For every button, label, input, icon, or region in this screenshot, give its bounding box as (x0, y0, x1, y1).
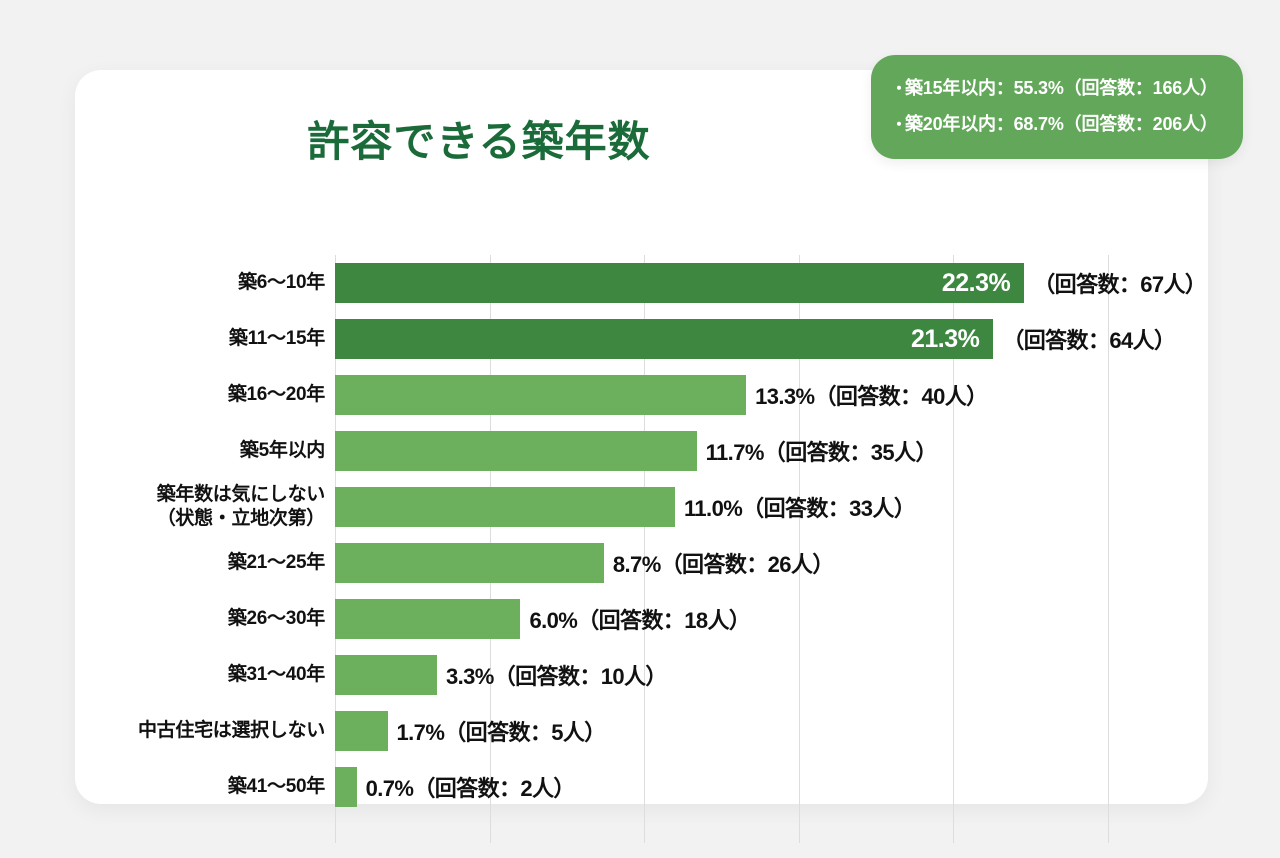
page-title: 許容できる築年数 (75, 108, 883, 169)
bar-category-label: 築31〜40年 (75, 663, 325, 687)
bar-category-label: 築年数は気にしない （状態・立地次第） (75, 483, 325, 531)
bullet-icon: ・ (891, 73, 905, 107)
bar-value-label: 0.7%（回答数：2人） (366, 771, 575, 803)
bar-row: 築6〜10年22.3%（回答数：67人） (75, 255, 1208, 311)
bar-value-label: 6.0%（回答数：18人） (529, 603, 750, 635)
bar-track: 11.0%（回答数：33人） (335, 479, 915, 535)
bar-value-label: 8.7%（回答数：26人） (613, 547, 834, 579)
bullet-icon: ・ (891, 109, 905, 143)
bar-count-label: （回答数：64人） (1002, 323, 1175, 355)
bar-row: 築41〜50年0.7%（回答数：2人） (75, 759, 1208, 815)
bar (335, 655, 437, 695)
bar (335, 375, 746, 415)
summary-badge-text: 築20年以内：68.7%（回答数：206人） (905, 114, 1218, 134)
bar-track: 21.3%（回答数：64人） (335, 311, 1175, 367)
bar: 22.3% (335, 263, 1024, 303)
bar (335, 711, 388, 751)
bar-row: 中古住宅は選択しない1.7%（回答数：5人） (75, 703, 1208, 759)
bar-category-label: 築16〜20年 (75, 383, 325, 407)
bar-category-label: 築5年以内 (75, 439, 325, 463)
chart-card: 許容できる築年数 築6〜10年22.3%（回答数：67人）築11〜15年21.3… (75, 70, 1208, 804)
bar-row: 築16〜20年13.3%（回答数：40人） (75, 367, 1208, 423)
bar-category-label: 築6〜10年 (75, 271, 325, 295)
bar-track: 8.7%（回答数：26人） (335, 535, 834, 591)
bar (335, 767, 357, 807)
bar-row: 築26〜30年6.0%（回答数：18人） (75, 591, 1208, 647)
bar-chart-plot: 築6〜10年22.3%（回答数：67人）築11〜15年21.3%（回答数：64人… (75, 210, 1208, 850)
bar-value-label: 3.3%（回答数：10人） (446, 659, 667, 691)
bar-row: 築11〜15年21.3%（回答数：64人） (75, 311, 1208, 367)
bar-row: 築31〜40年3.3%（回答数：10人） (75, 647, 1208, 703)
bar-count-label: （回答数：67人） (1033, 267, 1206, 299)
bar-track: 22.3%（回答数：67人） (335, 255, 1206, 311)
bar-rows-container: 築6〜10年22.3%（回答数：67人）築11〜15年21.3%（回答数：64人… (75, 255, 1208, 815)
summary-badge-line: ・築15年以内：55.3%（回答数：166人） (891, 71, 1225, 107)
bar: 21.3% (335, 319, 993, 359)
bar-value-label: 11.7%（回答数：35人） (706, 435, 937, 467)
summary-badge: ・築15年以内：55.3%（回答数：166人）・築20年以内：68.7%（回答数… (871, 55, 1243, 159)
bar (335, 431, 697, 471)
summary-badge-text: 築15年以内：55.3%（回答数：166人） (905, 78, 1218, 98)
bar-track: 6.0%（回答数：18人） (335, 591, 750, 647)
bar-category-label: 中古住宅は選択しない (75, 719, 325, 743)
bar (335, 543, 604, 583)
summary-badge-line: ・築20年以内：68.7%（回答数：206人） (891, 107, 1225, 143)
bar-track: 3.3%（回答数：10人） (335, 647, 667, 703)
bar-track: 11.7%（回答数：35人） (335, 423, 937, 479)
bar-category-label: 築11〜15年 (75, 327, 325, 351)
bar-track: 1.7%（回答数：5人） (335, 703, 606, 759)
bar-track: 13.3%（回答数：40人） (335, 367, 988, 423)
bar-value-label: 1.7%（回答数：5人） (397, 715, 606, 747)
bar-category-label: 築21〜25年 (75, 551, 325, 575)
bar-value-label: 21.3% (911, 325, 993, 354)
bar (335, 487, 675, 527)
bar-category-label: 築26〜30年 (75, 607, 325, 631)
bar-row: 築21〜25年8.7%（回答数：26人） (75, 535, 1208, 591)
bar-track: 0.7%（回答数：2人） (335, 759, 575, 815)
bar-value-label: 22.3% (942, 269, 1024, 298)
bar-value-label: 11.0%（回答数：33人） (684, 491, 915, 523)
bar-row: 築年数は気にしない （状態・立地次第）11.0%（回答数：33人） (75, 479, 1208, 535)
bar-row: 築5年以内11.7%（回答数：35人） (75, 423, 1208, 479)
bar (335, 599, 520, 639)
bar-value-label: 13.3%（回答数：40人） (755, 379, 987, 411)
bar-category-label: 築41〜50年 (75, 775, 325, 799)
